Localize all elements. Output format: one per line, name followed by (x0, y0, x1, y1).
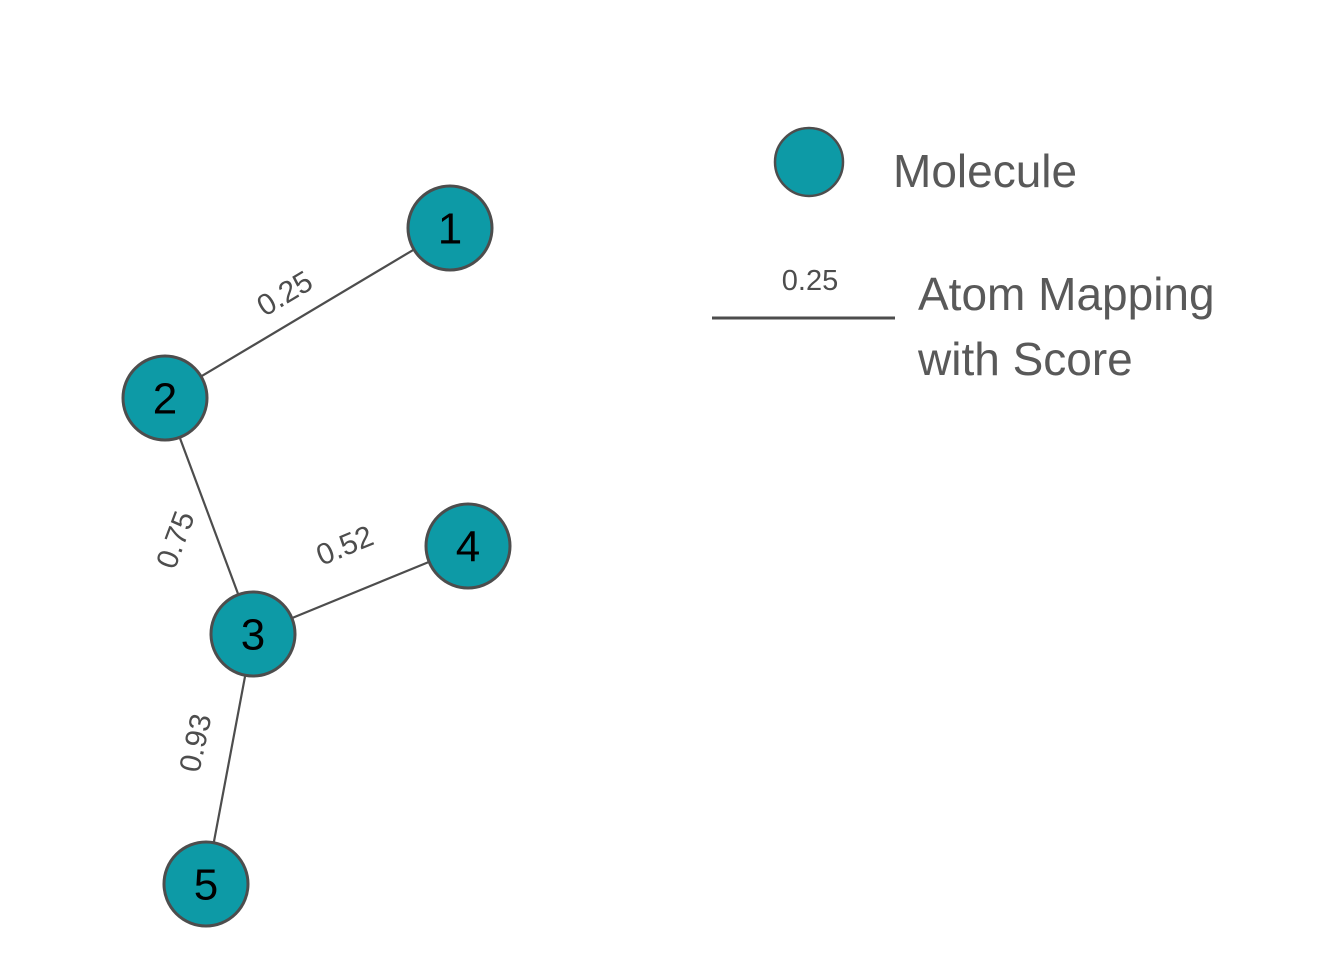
node-label-5: 5 (194, 861, 218, 910)
node-5[interactable]: 5 (164, 842, 248, 926)
edge-label-3-5: 0.93 (174, 711, 219, 775)
network-graph-svg: 0.25 0.75 0.52 0.93 1 2 3 4 (0, 0, 1320, 979)
legend-item-atom-mapping: 0.25 Atom Mapping with Score (712, 265, 1215, 385)
node-2[interactable]: 2 (123, 356, 207, 440)
edge-label-3-4: 0.52 (312, 520, 379, 573)
legend-item-molecule: Molecule (775, 128, 1077, 197)
legend-molecule-swatch-icon (775, 128, 843, 196)
edges-layer (180, 250, 429, 843)
node-label-3: 3 (241, 611, 265, 660)
edge-label-2-3: 0.75 (150, 507, 201, 573)
edge-3-4[interactable] (292, 562, 429, 618)
node-4[interactable]: 4 (426, 504, 510, 588)
legend-molecule-label: Molecule (893, 145, 1077, 197)
edge-3-5[interactable] (214, 675, 245, 842)
graph-canvas: 0.25 0.75 0.52 0.93 1 2 3 4 (0, 0, 1320, 979)
node-label-4: 4 (456, 523, 480, 572)
edge-labels-layer: 0.25 0.75 0.52 0.93 (150, 265, 378, 775)
node-1[interactable]: 1 (408, 186, 492, 270)
edge-label-2-1: 0.25 (251, 265, 318, 323)
node-3[interactable]: 3 (211, 592, 295, 676)
edge-2-1[interactable] (201, 250, 414, 377)
legend-score-example: 0.25 (782, 265, 838, 297)
legend-atom-mapping-label-line1: Atom Mapping (918, 268, 1215, 320)
legend: Molecule 0.25 Atom Mapping with Score (712, 128, 1215, 385)
legend-atom-mapping-label-line2: with Score (917, 333, 1133, 385)
node-label-2: 2 (153, 375, 177, 424)
node-label-1: 1 (438, 205, 462, 254)
